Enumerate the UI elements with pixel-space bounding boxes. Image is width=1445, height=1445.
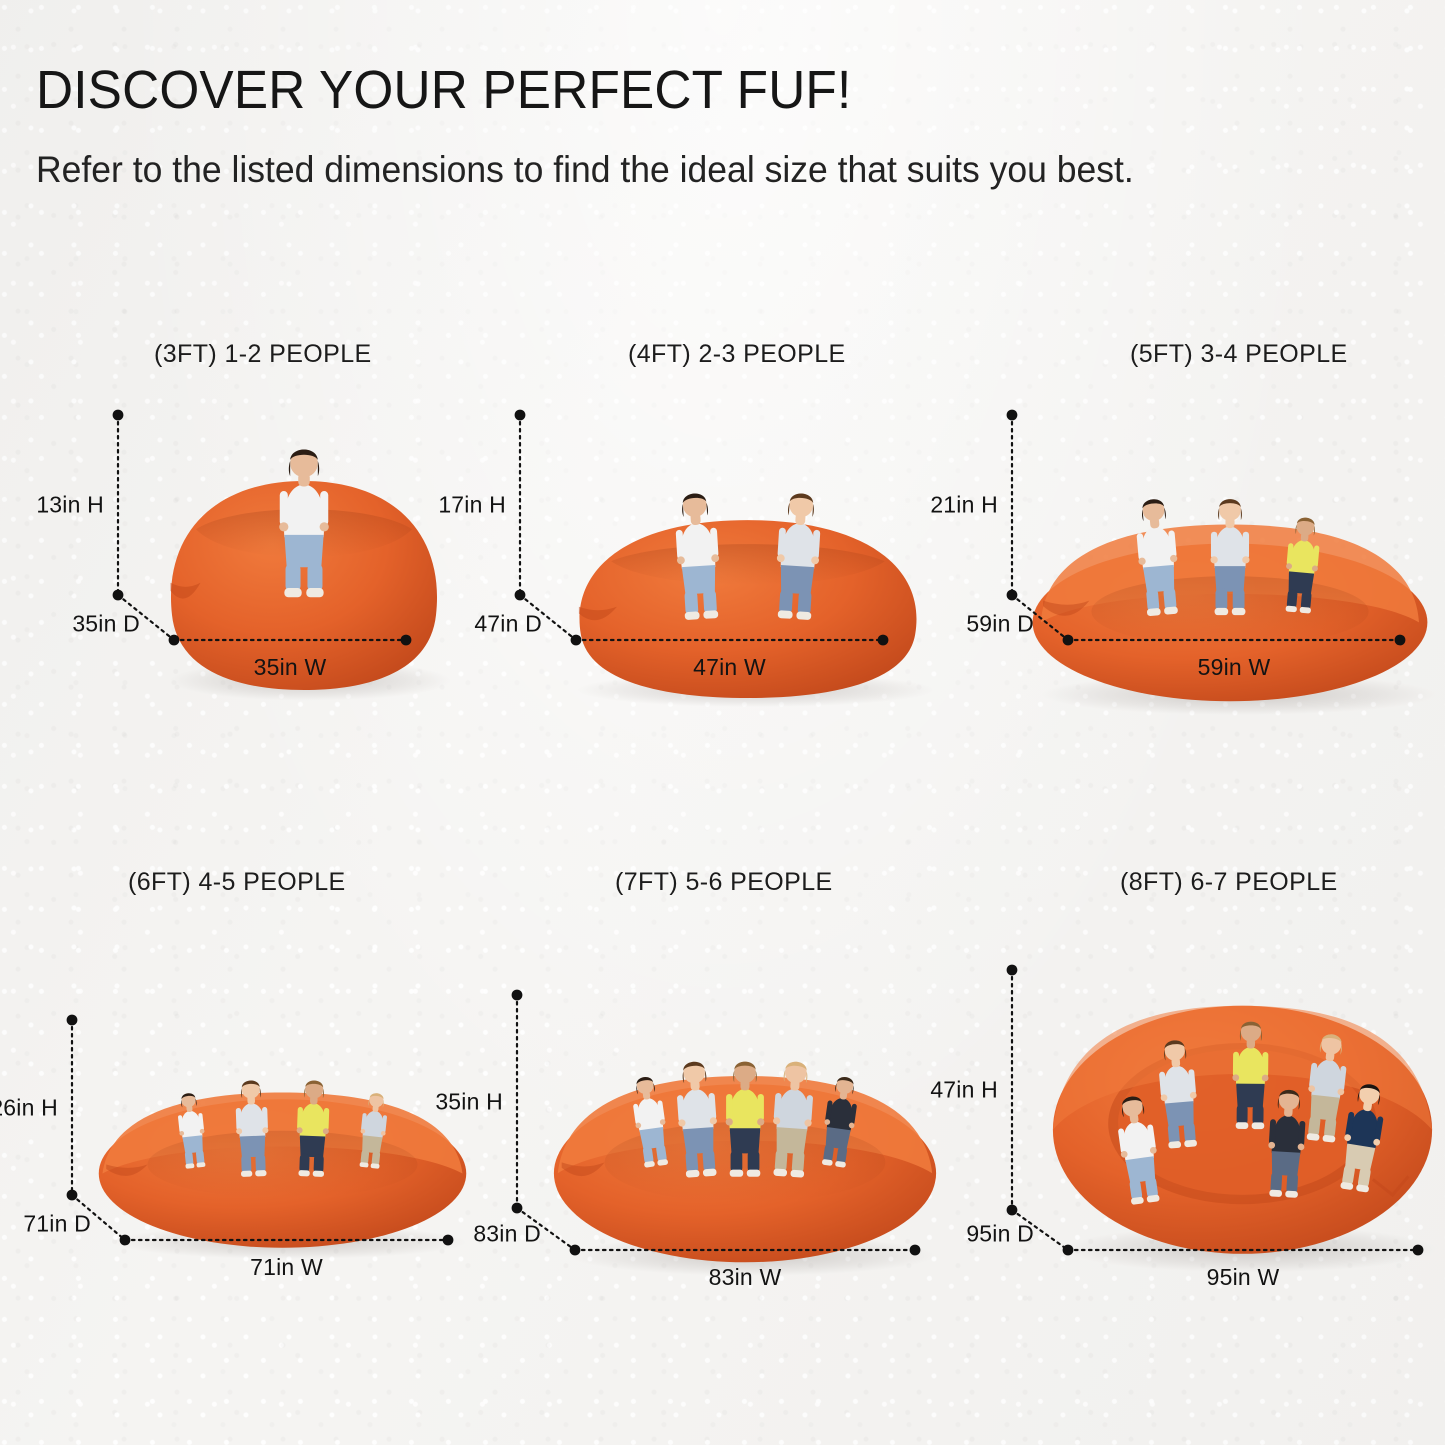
dimension-depth-3ft: 35in D [72, 611, 140, 638]
dimension-depth-4ft: 47in D [474, 611, 542, 638]
panel-title-5ft: (5FT) 3-4 PEOPLE [1130, 340, 1348, 369]
size-panel-3ft[interactable]: (3FT) 1-2 PEOPLE [36, 322, 476, 782]
dimension-width-4ft: 47in W [693, 654, 766, 681]
dimension-width-8ft: 95in W [1207, 1264, 1280, 1291]
dimension-height-6ft: 26in H [0, 1094, 58, 1121]
size-panel-5ft[interactable]: (5FT) 3-4 PEOPLE [960, 322, 1435, 782]
bean-bag-illustration-3ft [154, 422, 454, 690]
size-panel-8ft[interactable]: (8FT) 6-7 PEOPLE [950, 850, 1445, 1335]
bean-bag-illustration-7ft [550, 995, 940, 1265]
dimension-depth-6ft: 71in D [23, 1211, 91, 1238]
panel-title-4ft: (4FT) 2-3 PEOPLE [628, 340, 846, 369]
bean-bag-illustration-6ft [95, 1025, 470, 1250]
page-subtitle: Refer to the listed dimensions to find t… [36, 144, 1169, 197]
dimension-height-4ft: 17in H [438, 492, 506, 519]
size-chart-infographic: DISCOVER YOUR PERFECT FUF! Refer to the … [0, 0, 1445, 1445]
panel-title-7ft: (7FT) 5-6 PEOPLE [615, 868, 833, 897]
size-panel-4ft[interactable]: (4FT) 2-3 PEOPLE [468, 322, 923, 782]
dimension-width-3ft: 35in W [254, 654, 327, 681]
panel-title-8ft: (8FT) 6-7 PEOPLE [1120, 868, 1338, 897]
dimension-height-7ft: 35in H [435, 1088, 503, 1115]
dimension-width-5ft: 59in W [1198, 654, 1271, 681]
dimension-depth-5ft: 59in D [966, 611, 1034, 638]
dimension-width-6ft: 71in W [250, 1254, 323, 1281]
size-panel-7ft[interactable]: (7FT) 5-6 PEOPLE [455, 850, 945, 1335]
panel-title-6ft: (6FT) 4-5 PEOPLE [128, 868, 346, 897]
panel-title-3ft: (3FT) 1-2 PEOPLE [154, 340, 372, 369]
dimension-depth-7ft: 83in D [473, 1221, 541, 1248]
dimension-depth-8ft: 95in D [966, 1221, 1034, 1248]
size-panel-6ft[interactable]: (6FT) 4-5 PEOPLE [10, 850, 480, 1335]
dimension-height-5ft: 21in H [930, 492, 998, 519]
dimension-height-3ft: 13in H [36, 492, 104, 519]
header: DISCOVER YOUR PERFECT FUF! Refer to the … [36, 62, 1276, 197]
page-title: DISCOVER YOUR PERFECT FUF! [36, 62, 1214, 118]
dimension-height-8ft: 47in H [930, 1077, 998, 1104]
dimension-width-7ft: 83in W [709, 1264, 782, 1291]
bean-bag-illustration-8ft [1045, 950, 1440, 1260]
